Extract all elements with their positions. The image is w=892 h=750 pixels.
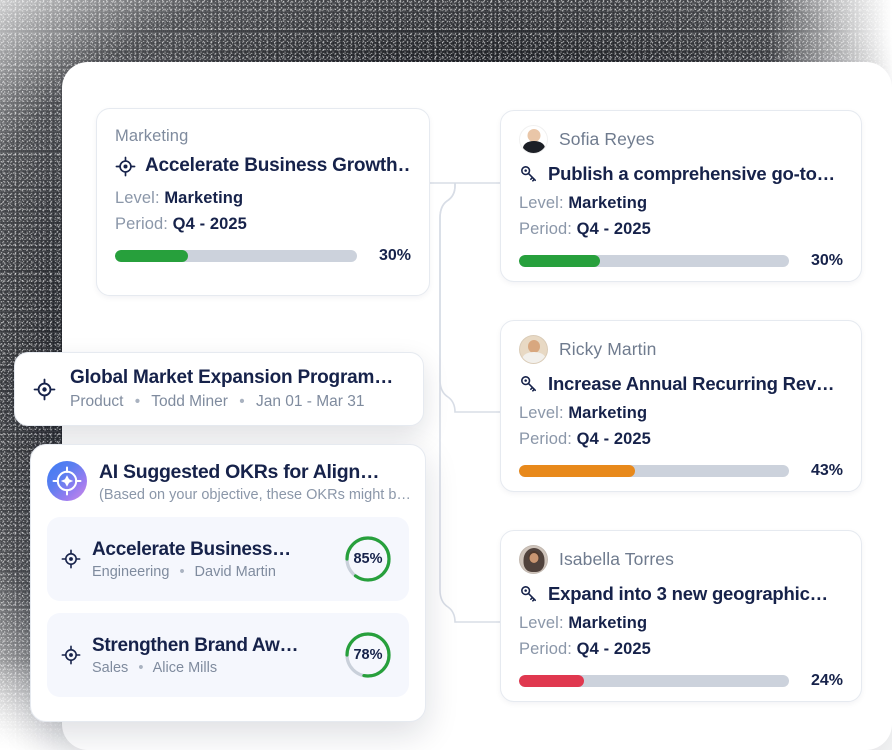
suggestion-title: Strengthen Brand Aw… — [92, 635, 332, 657]
objective-level-label: Level: — [115, 189, 160, 207]
objective-level-value: Marketing — [164, 189, 243, 207]
program-dates: Jan 01 - Mar 31 — [256, 393, 365, 410]
suggestion-title: Accelerate Business… — [92, 539, 332, 561]
separator-dot: • — [138, 660, 143, 676]
ai-suggestion-item[interactable]: Accelerate Business… Engineering • David… — [47, 517, 409, 601]
objective-title-row: Accelerate Business Growth… — [115, 155, 411, 177]
objective-title: Accelerate Business Growth… — [145, 155, 411, 177]
ai-card-title: AI Suggested OKRs for Align… — [99, 461, 409, 484]
objective-period-label: Period: — [115, 215, 168, 233]
key-result-level-label: Level: — [519, 404, 564, 422]
target-icon — [115, 156, 136, 177]
key-result-level: Level: Marketing — [519, 614, 843, 633]
key-result-progress-row: 43% — [519, 462, 843, 480]
key-result-title: Publish a comprehensive go-to… — [548, 163, 835, 185]
key-result-owner-row: Isabella Torres — [519, 545, 843, 574]
key-result-level: Level: Marketing — [519, 404, 843, 423]
key-result-title-row: Publish a comprehensive go-to… — [519, 163, 843, 185]
match-score-value: 85% — [343, 534, 393, 584]
suggestion-owner: Alice Mills — [153, 660, 217, 676]
key-result-progress-row: 24% — [519, 672, 843, 690]
progress-track — [115, 250, 357, 262]
key-result-owner-name: Isabella Torres — [559, 549, 674, 570]
avatar — [519, 125, 548, 154]
key-result-card[interactable]: Isabella Torres Expand into 3 new geogra… — [500, 530, 862, 702]
key-result-level-value: Marketing — [568, 404, 647, 422]
key-result-progress-row: 30% — [519, 252, 843, 270]
key-result-owner-name: Sofia Reyes — [559, 129, 654, 150]
program-meta: Product • Todd Miner • Jan 01 - Mar 31 — [70, 393, 393, 411]
key-result-level-value: Marketing — [568, 614, 647, 632]
key-result-period: Period: Q4 - 2025 — [519, 220, 843, 239]
objective-progress-row: 30% — [115, 247, 411, 265]
key-result-card[interactable]: Sofia Reyes Publish a comprehensive go-t… — [500, 110, 862, 282]
key-result-period-label: Period: — [519, 640, 572, 658]
key-result-title: Increase Annual Recurring Rev… — [548, 373, 834, 395]
key-result-level-value: Marketing — [568, 194, 647, 212]
avatar — [519, 335, 548, 364]
key-result-level: Level: Marketing — [519, 194, 843, 213]
suggestion-owner: David Martin — [195, 564, 276, 580]
ai-card-header: AI Suggested OKRs for Align… (Based on y… — [47, 461, 409, 503]
ai-card-subtitle: (Based on your objective, these OKRs mig… — [99, 487, 409, 503]
progress-track — [519, 675, 789, 687]
progress-percent: 30% — [803, 252, 843, 270]
progress-fill — [519, 255, 600, 267]
key-result-period-value: Q4 - 2025 — [577, 430, 651, 448]
suggestion-meta: Engineering • David Martin — [92, 564, 332, 580]
key-result-title-row: Increase Annual Recurring Rev… — [519, 373, 843, 395]
progress-fill — [519, 465, 635, 477]
separator-dot: • — [239, 393, 244, 410]
objective-period: Period: Q4 - 2025 — [115, 215, 411, 234]
key-result-card[interactable]: Ricky Martin Increase Annual Recurring R… — [500, 320, 862, 492]
key-result-title-row: Expand into 3 new geographic… — [519, 583, 843, 605]
objective-card[interactable]: Marketing Accelerate Business Growth… Le… — [96, 108, 430, 296]
suggestion-team: Sales — [92, 660, 128, 676]
target-icon — [61, 645, 81, 665]
program-title: Global Market Expansion Program… — [70, 367, 393, 389]
key-result-level-label: Level: — [519, 194, 564, 212]
match-score-ring: 78% — [343, 630, 393, 680]
key-result-owner-row: Sofia Reyes — [519, 125, 843, 154]
key-result-period: Period: Q4 - 2025 — [519, 430, 843, 449]
program-owner: Todd Miner — [151, 393, 228, 410]
progress-track — [519, 465, 789, 477]
objective-level: Level: Marketing — [115, 189, 411, 208]
separator-dot: • — [135, 393, 140, 410]
progress-percent: 30% — [371, 247, 411, 265]
key-result-period-label: Period: — [519, 220, 572, 238]
progress-percent: 24% — [803, 672, 843, 690]
key-result-owner-row: Ricky Martin — [519, 335, 843, 364]
key-result-period: Period: Q4 - 2025 — [519, 640, 843, 659]
progress-percent: 43% — [803, 462, 843, 480]
key-icon — [519, 584, 539, 604]
program-card[interactable]: Global Market Expansion Program… Product… — [14, 352, 424, 426]
key-result-period-value: Q4 - 2025 — [577, 220, 651, 238]
key-icon — [519, 164, 539, 184]
key-result-period-value: Q4 - 2025 — [577, 640, 651, 658]
objective-department: Marketing — [115, 127, 411, 146]
progress-fill — [519, 675, 584, 687]
key-result-level-label: Level: — [519, 614, 564, 632]
separator-dot: • — [179, 564, 184, 580]
suggestion-team: Engineering — [92, 564, 169, 580]
match-score-ring: 85% — [343, 534, 393, 584]
progress-fill — [115, 250, 188, 262]
target-icon — [33, 378, 56, 401]
progress-track — [519, 255, 789, 267]
ai-target-icon — [47, 461, 87, 501]
key-result-title: Expand into 3 new geographic… — [548, 583, 828, 605]
ai-suggestion-item[interactable]: Strengthen Brand Aw… Sales • Alice Mills… — [47, 613, 409, 697]
objective-period-value: Q4 - 2025 — [173, 215, 247, 233]
key-icon — [519, 374, 539, 394]
key-result-period-label: Period: — [519, 430, 572, 448]
key-result-owner-name: Ricky Martin — [559, 339, 656, 360]
match-score-value: 78% — [343, 630, 393, 680]
program-team: Product — [70, 393, 123, 410]
target-icon — [61, 549, 81, 569]
suggestion-meta: Sales • Alice Mills — [92, 660, 332, 676]
ai-suggestions-card[interactable]: AI Suggested OKRs for Align… (Based on y… — [30, 444, 426, 722]
avatar — [519, 545, 548, 574]
